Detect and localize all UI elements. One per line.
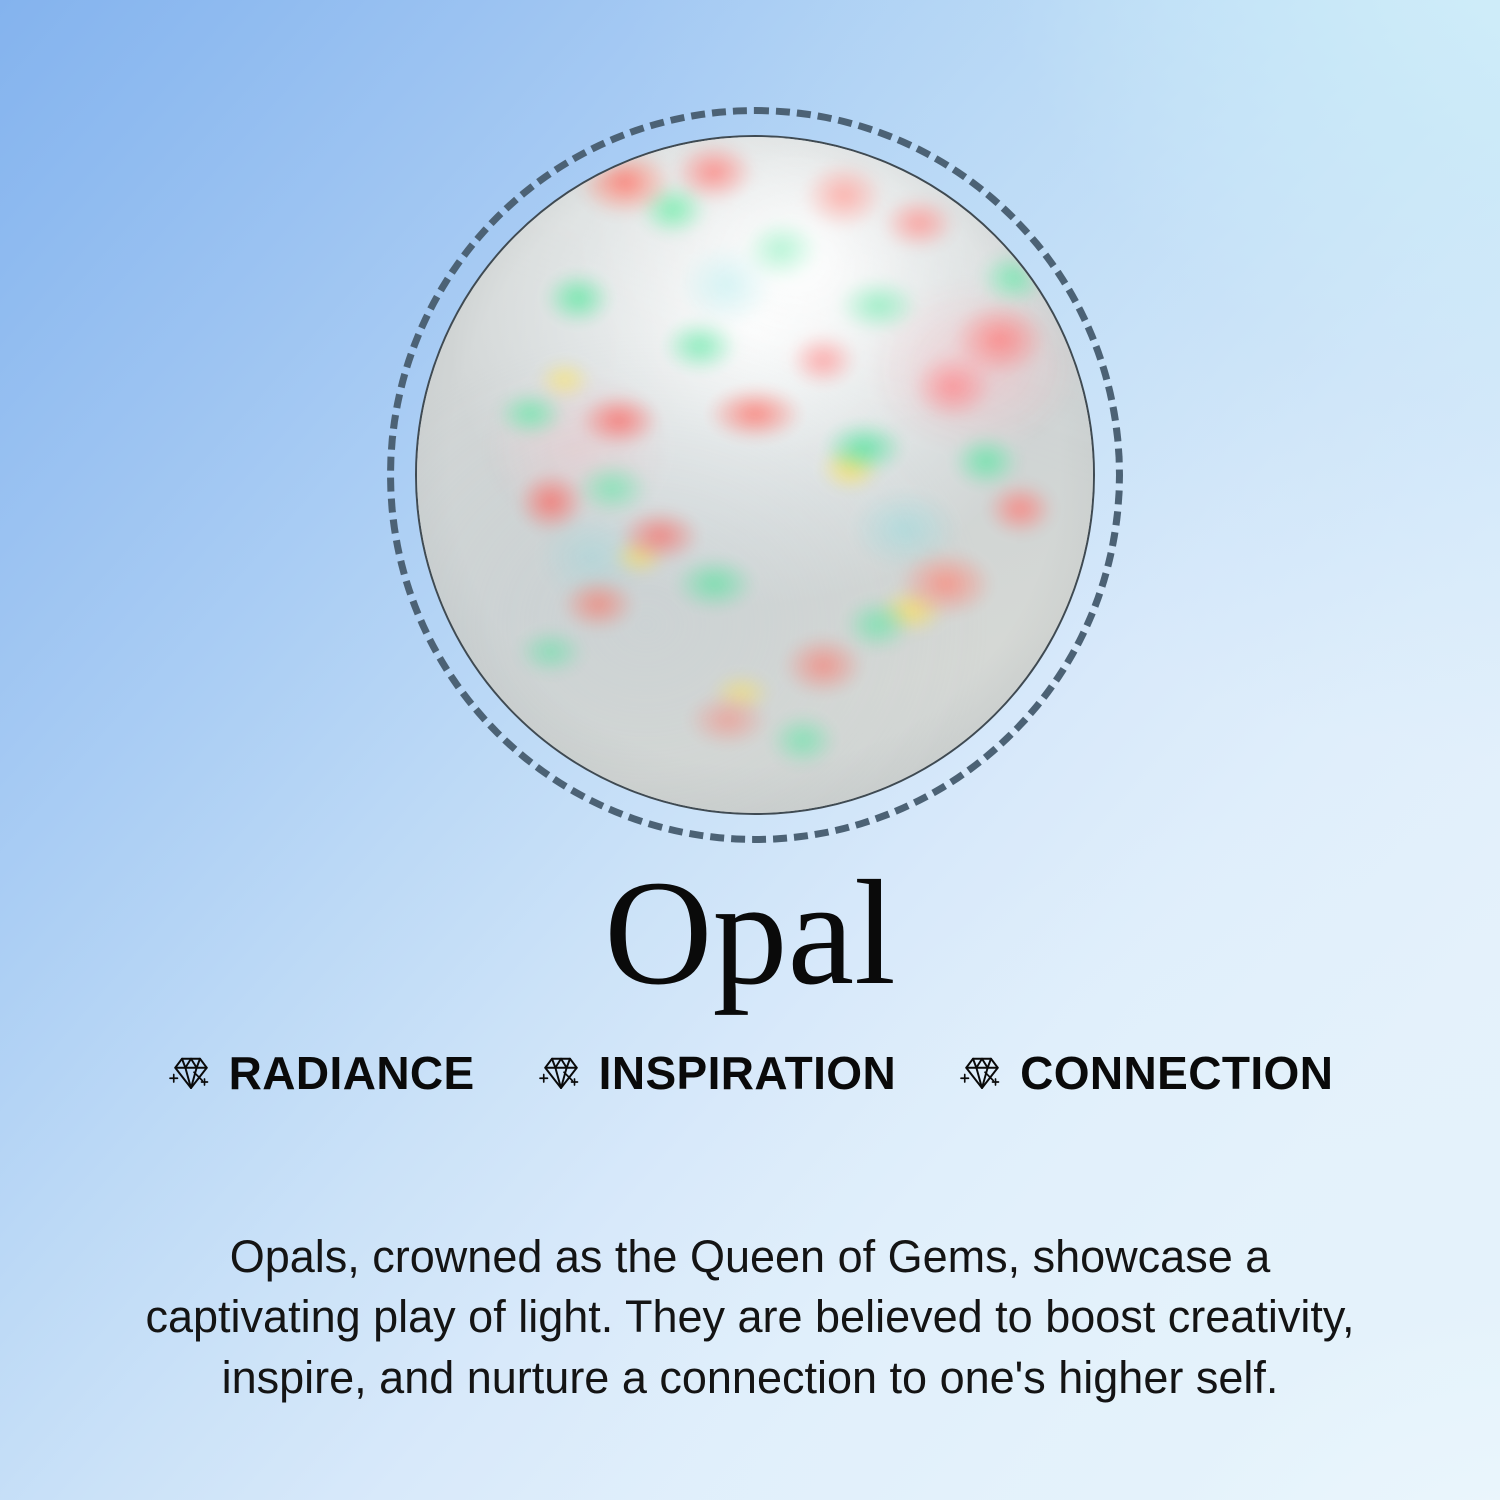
gemstone-info-card: Opal RADIANCE — [0, 0, 1500, 1500]
opal-play-of-color-layer — [415, 135, 1095, 815]
attribute-item-inspiration: INSPIRATION — [537, 1046, 896, 1100]
attributes-row: RADIANCE INSPIRATION — [0, 1046, 1500, 1100]
opal-stone-image — [415, 135, 1095, 815]
attribute-label: CONNECTION — [1020, 1046, 1333, 1100]
gem-image-block — [0, 0, 1500, 880]
diamond-icon — [167, 1049, 215, 1097]
gem-description: Opals, crowned as the Queen of Gems, sho… — [120, 1227, 1380, 1408]
gem-title: Opal — [0, 858, 1500, 1008]
diamond-icon — [537, 1049, 585, 1097]
attribute-label: RADIANCE — [229, 1046, 475, 1100]
attribute-item-connection: CONNECTION — [958, 1046, 1333, 1100]
attribute-item-radiance: RADIANCE — [167, 1046, 475, 1100]
attribute-label: INSPIRATION — [599, 1046, 896, 1100]
diamond-icon — [958, 1049, 1006, 1097]
